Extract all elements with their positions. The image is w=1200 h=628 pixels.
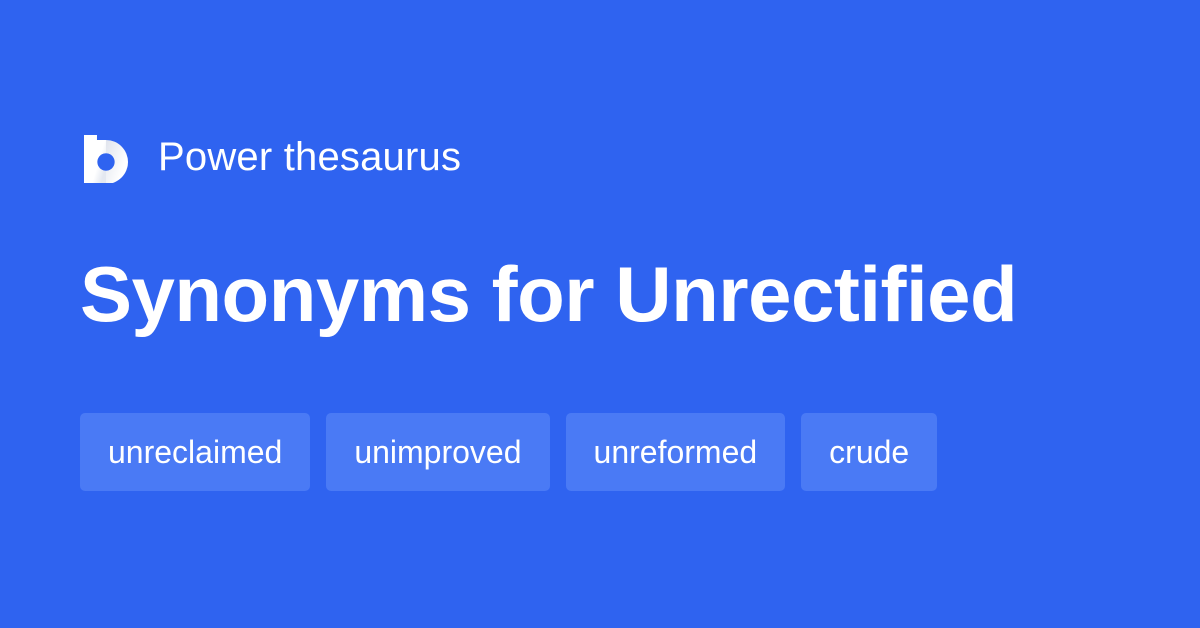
brand-name: Power thesaurus xyxy=(158,137,461,177)
logo-inner-circle xyxy=(97,153,114,170)
synonym-chip[interactable]: crude xyxy=(801,413,937,491)
og-card: Power thesaurus Synonyms for Unrectified… xyxy=(0,0,1200,628)
page-title: Synonyms for Unrectified xyxy=(80,248,1017,340)
synonym-chip-list: unreclaimed unimproved unreformed crude xyxy=(80,413,937,491)
brand-lockup[interactable]: Power thesaurus xyxy=(80,127,461,187)
synonym-chip[interactable]: unimproved xyxy=(326,413,549,491)
synonym-chip[interactable]: unreclaimed xyxy=(80,413,310,491)
synonym-chip[interactable]: unreformed xyxy=(566,413,786,491)
power-thesaurus-b-logo-icon xyxy=(80,131,132,183)
